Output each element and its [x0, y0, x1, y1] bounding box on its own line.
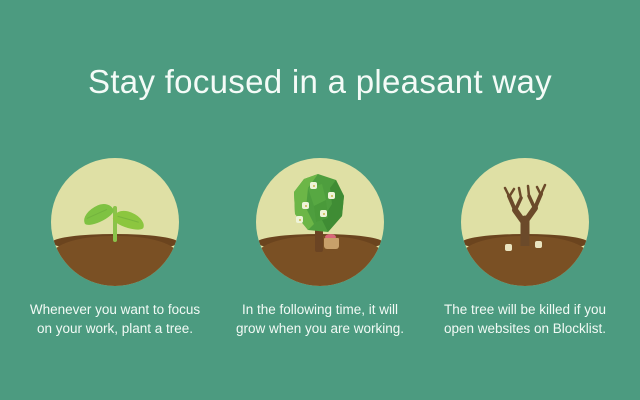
caption-line: on your work, plant a tree.	[15, 319, 215, 338]
feature-panel-killed: The tree will be killed if you open webs…	[423, 158, 628, 338]
caption-line: grow when you are working.	[220, 319, 420, 338]
panel-caption: Whenever you want to focus on your work,…	[15, 300, 215, 338]
dead-tree-icon	[495, 176, 555, 246]
leaf-vein	[87, 209, 108, 219]
panel-caption: In the following time, it will grow when…	[220, 300, 420, 338]
leaf-vein	[117, 216, 138, 223]
caption-line: open websites on Blocklist.	[425, 319, 625, 338]
caption-line: In the following time, it will	[220, 300, 420, 319]
seedling-illustration	[51, 158, 179, 286]
panel-caption: The tree will be killed if you open webs…	[425, 300, 625, 338]
feature-panel-plant: Whenever you want to focus on your work,…	[13, 158, 218, 338]
promo-slide: Stay focused in a pleasant way Whenever …	[0, 0, 640, 400]
withered-tree-illustration	[461, 158, 589, 286]
blossom-icon	[320, 210, 327, 217]
blossom-icon	[302, 202, 309, 209]
soil-bowl	[52, 236, 178, 286]
basket-icon	[324, 238, 339, 249]
caption-line: Whenever you want to focus	[15, 300, 215, 319]
grown-tree-illustration	[256, 158, 384, 286]
feature-panels: Whenever you want to focus on your work,…	[0, 158, 640, 338]
blossom-icon	[328, 192, 335, 199]
page-title: Stay focused in a pleasant way	[0, 62, 640, 102]
caption-line: The tree will be killed if you	[425, 300, 625, 319]
fallen-blossom-icon	[505, 244, 512, 251]
sprout-leaf-left-icon	[80, 200, 116, 228]
tree-canopy-icon	[292, 174, 348, 236]
feature-panel-grow: In the following time, it will grow when…	[218, 158, 423, 338]
fallen-blossom-icon	[535, 241, 542, 248]
blossom-icon	[310, 182, 317, 189]
blossom-icon	[296, 216, 303, 223]
